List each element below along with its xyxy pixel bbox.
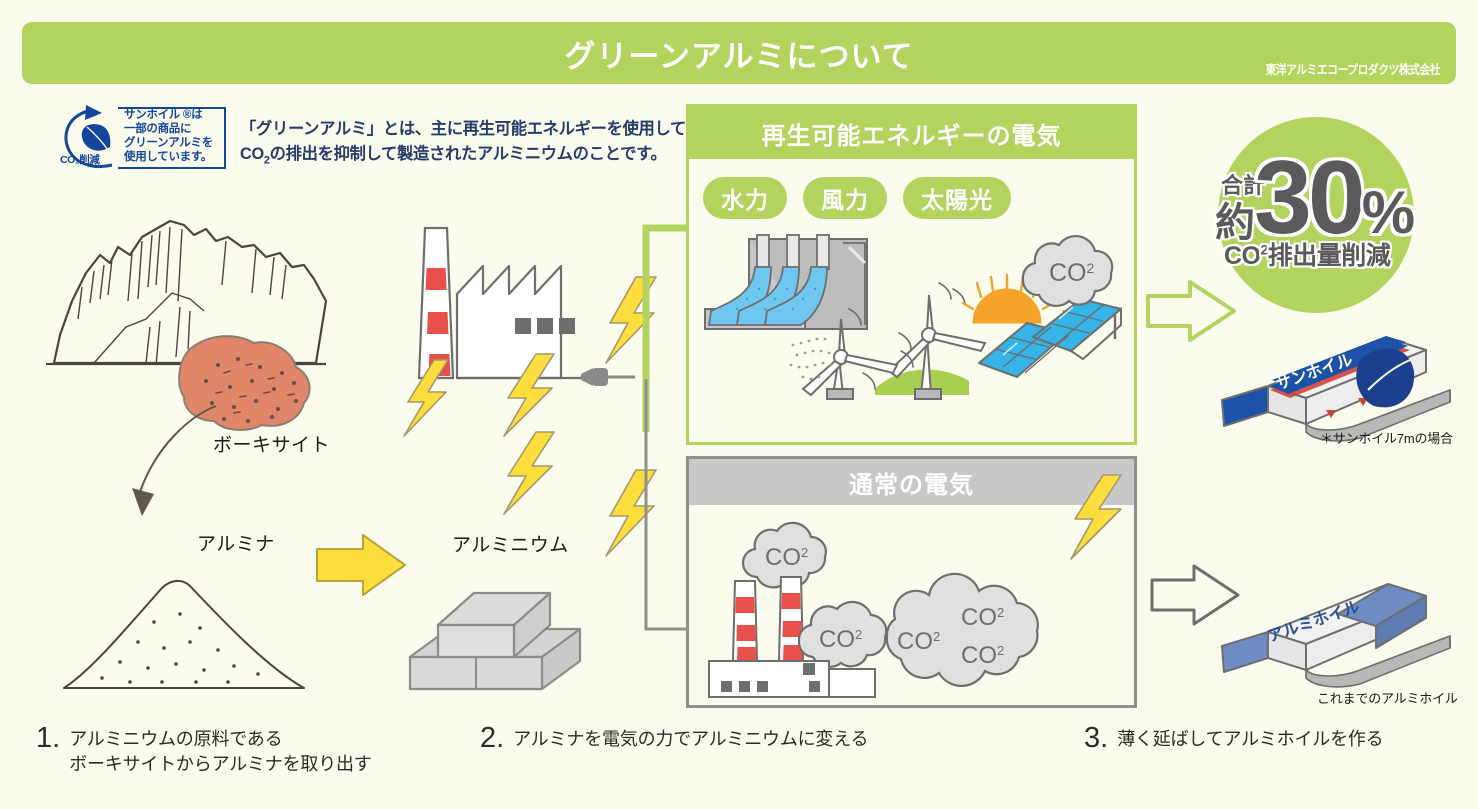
lightning-bolt-icon <box>498 430 566 516</box>
label-aluminium: アルミニウム <box>452 530 569 557</box>
label-bauxite: ボーキサイト <box>213 430 330 457</box>
step-2-number: 2. <box>480 723 504 753</box>
badge-line-1: サンホイル ®は <box>124 108 228 122</box>
lead-line-2-rest: の排出を抑制して製造されたアルミニウムのことです。 <box>270 145 667 163</box>
step-3-number: 3. <box>1084 723 1108 753</box>
step-1-number: 1. <box>36 723 60 753</box>
pill-wind[interactable]: 風力 <box>803 177 887 219</box>
sunhoil-badge: サンホイル ®は 一部の商品に グリーンアルミを 使用しています。 CO₂削減 <box>58 103 228 173</box>
page-title: グリーンアルミについて <box>22 22 1456 84</box>
renewable-panel-header: 再生可能エネルギーの電気 <box>689 107 1134 159</box>
co2-cloud-small: CO2 <box>1007 229 1123 313</box>
normal-electricity-panel: 通常の電気 CO2 CO2 CO2 CO2 CO2 <box>686 456 1137 708</box>
circle-sub-co: CO <box>1224 242 1261 270</box>
arrow-right-icon <box>313 531 409 601</box>
wind-turbine-illustration <box>789 277 989 399</box>
step-1-text: アルミニウムの原料である ボーキサイトからアルミナを取り出す <box>69 723 371 777</box>
circle-subtitle: CO2排出量削減 <box>1224 236 1390 272</box>
lead-line-2: CO2の排出を抑制して製造されたアルミニウムのことです。 <box>240 142 690 173</box>
company-logo: 東洋アルミエコープロダクツ株式会社 <box>1265 59 1440 78</box>
badge-line-2: 一部の商品に <box>124 122 228 136</box>
alumina-pile-illustration <box>58 570 318 700</box>
circle-sub-rest: 排出量削減 <box>1268 242 1391 270</box>
renewable-panel-title: 再生可能エネルギーの電気 <box>689 107 1134 159</box>
lead-line-1: 「グリーンアルミ」とは、主に再生可能エネルギーを使用して <box>240 117 690 142</box>
step-3: 3. 薄く延ばしてアルミホイルを作る <box>1084 723 1383 753</box>
badge-line-3: グリーンアルミを <box>124 136 228 150</box>
badge-co2-label: CO₂削減 <box>60 152 99 167</box>
circle-sub-sup: 2 <box>1261 242 1268 258</box>
lead-co2: CO <box>240 145 264 163</box>
renewable-energy-panel: 再生可能エネルギーの電気 水力 風力 太陽光 <box>686 104 1137 445</box>
lightning-bolt-icon <box>400 358 460 438</box>
curved-arrow-bauxite-to-alumina <box>90 400 230 530</box>
alumihoil-product-illustration: アルミホイル <box>1210 570 1460 688</box>
step-2: 2. アルミナを電気の力でアルミニウムに変える <box>480 723 868 753</box>
lightning-bolt-icon <box>1067 473 1133 561</box>
label-alumina: アルミナ <box>197 529 275 556</box>
aluminium-ingots-illustration <box>400 565 630 705</box>
step-2-text: アルミナを電気の力でアルミニウムに変える <box>513 723 868 752</box>
step-1-line-1: アルミニウムの原料である <box>69 727 371 752</box>
infographic-canvas: グリーンアルミについて 東洋アルミエコープロダクツ株式会社 サンホイル ®は 一… <box>0 0 1478 809</box>
pill-hydro[interactable]: 水力 <box>703 177 787 219</box>
step-3-line-1: 薄く延ばしてアルミホイルを作る <box>1117 727 1383 752</box>
energy-pill-row: 水力 風力 太陽光 <box>703 177 1123 219</box>
coal-plant-illustration: CO2 CO2 CO2 CO2 CO2 <box>699 511 1129 705</box>
header-bar: グリーンアルミについて 東洋アルミエコープロダクツ株式会社 <box>22 22 1456 84</box>
sunhoil-product-note: ＊サンホイル7mの場合 <box>1320 428 1453 447</box>
pill-solar[interactable]: 太陽光 <box>903 177 1011 219</box>
lightning-bolt-icon <box>498 352 566 438</box>
lead-paragraph: 「グリーンアルミ」とは、主に再生可能エネルギーを使用して CO2の排出を抑制して… <box>240 117 690 173</box>
alumihoil-product-note: これまでのアルミホイル <box>1317 688 1458 707</box>
badge-line-4: 使用しています。 <box>124 150 228 164</box>
step-2-line-1: アルミナを電気の力でアルミニウムに変える <box>513 727 868 752</box>
sunhoil-product-illustration: サンホイル <box>1210 328 1460 440</box>
leaf-icon <box>1356 349 1414 408</box>
step-1-line-2: ボーキサイトからアルミナを取り出す <box>69 752 371 777</box>
step-1: 1. アルミニウムの原料である ボーキサイトからアルミナを取り出す <box>36 723 372 777</box>
badge-text-block: サンホイル ®は 一部の商品に グリーンアルミを 使用しています。 <box>124 108 228 164</box>
step-3-text: 薄く延ばしてアルミホイルを作る <box>1117 723 1383 752</box>
